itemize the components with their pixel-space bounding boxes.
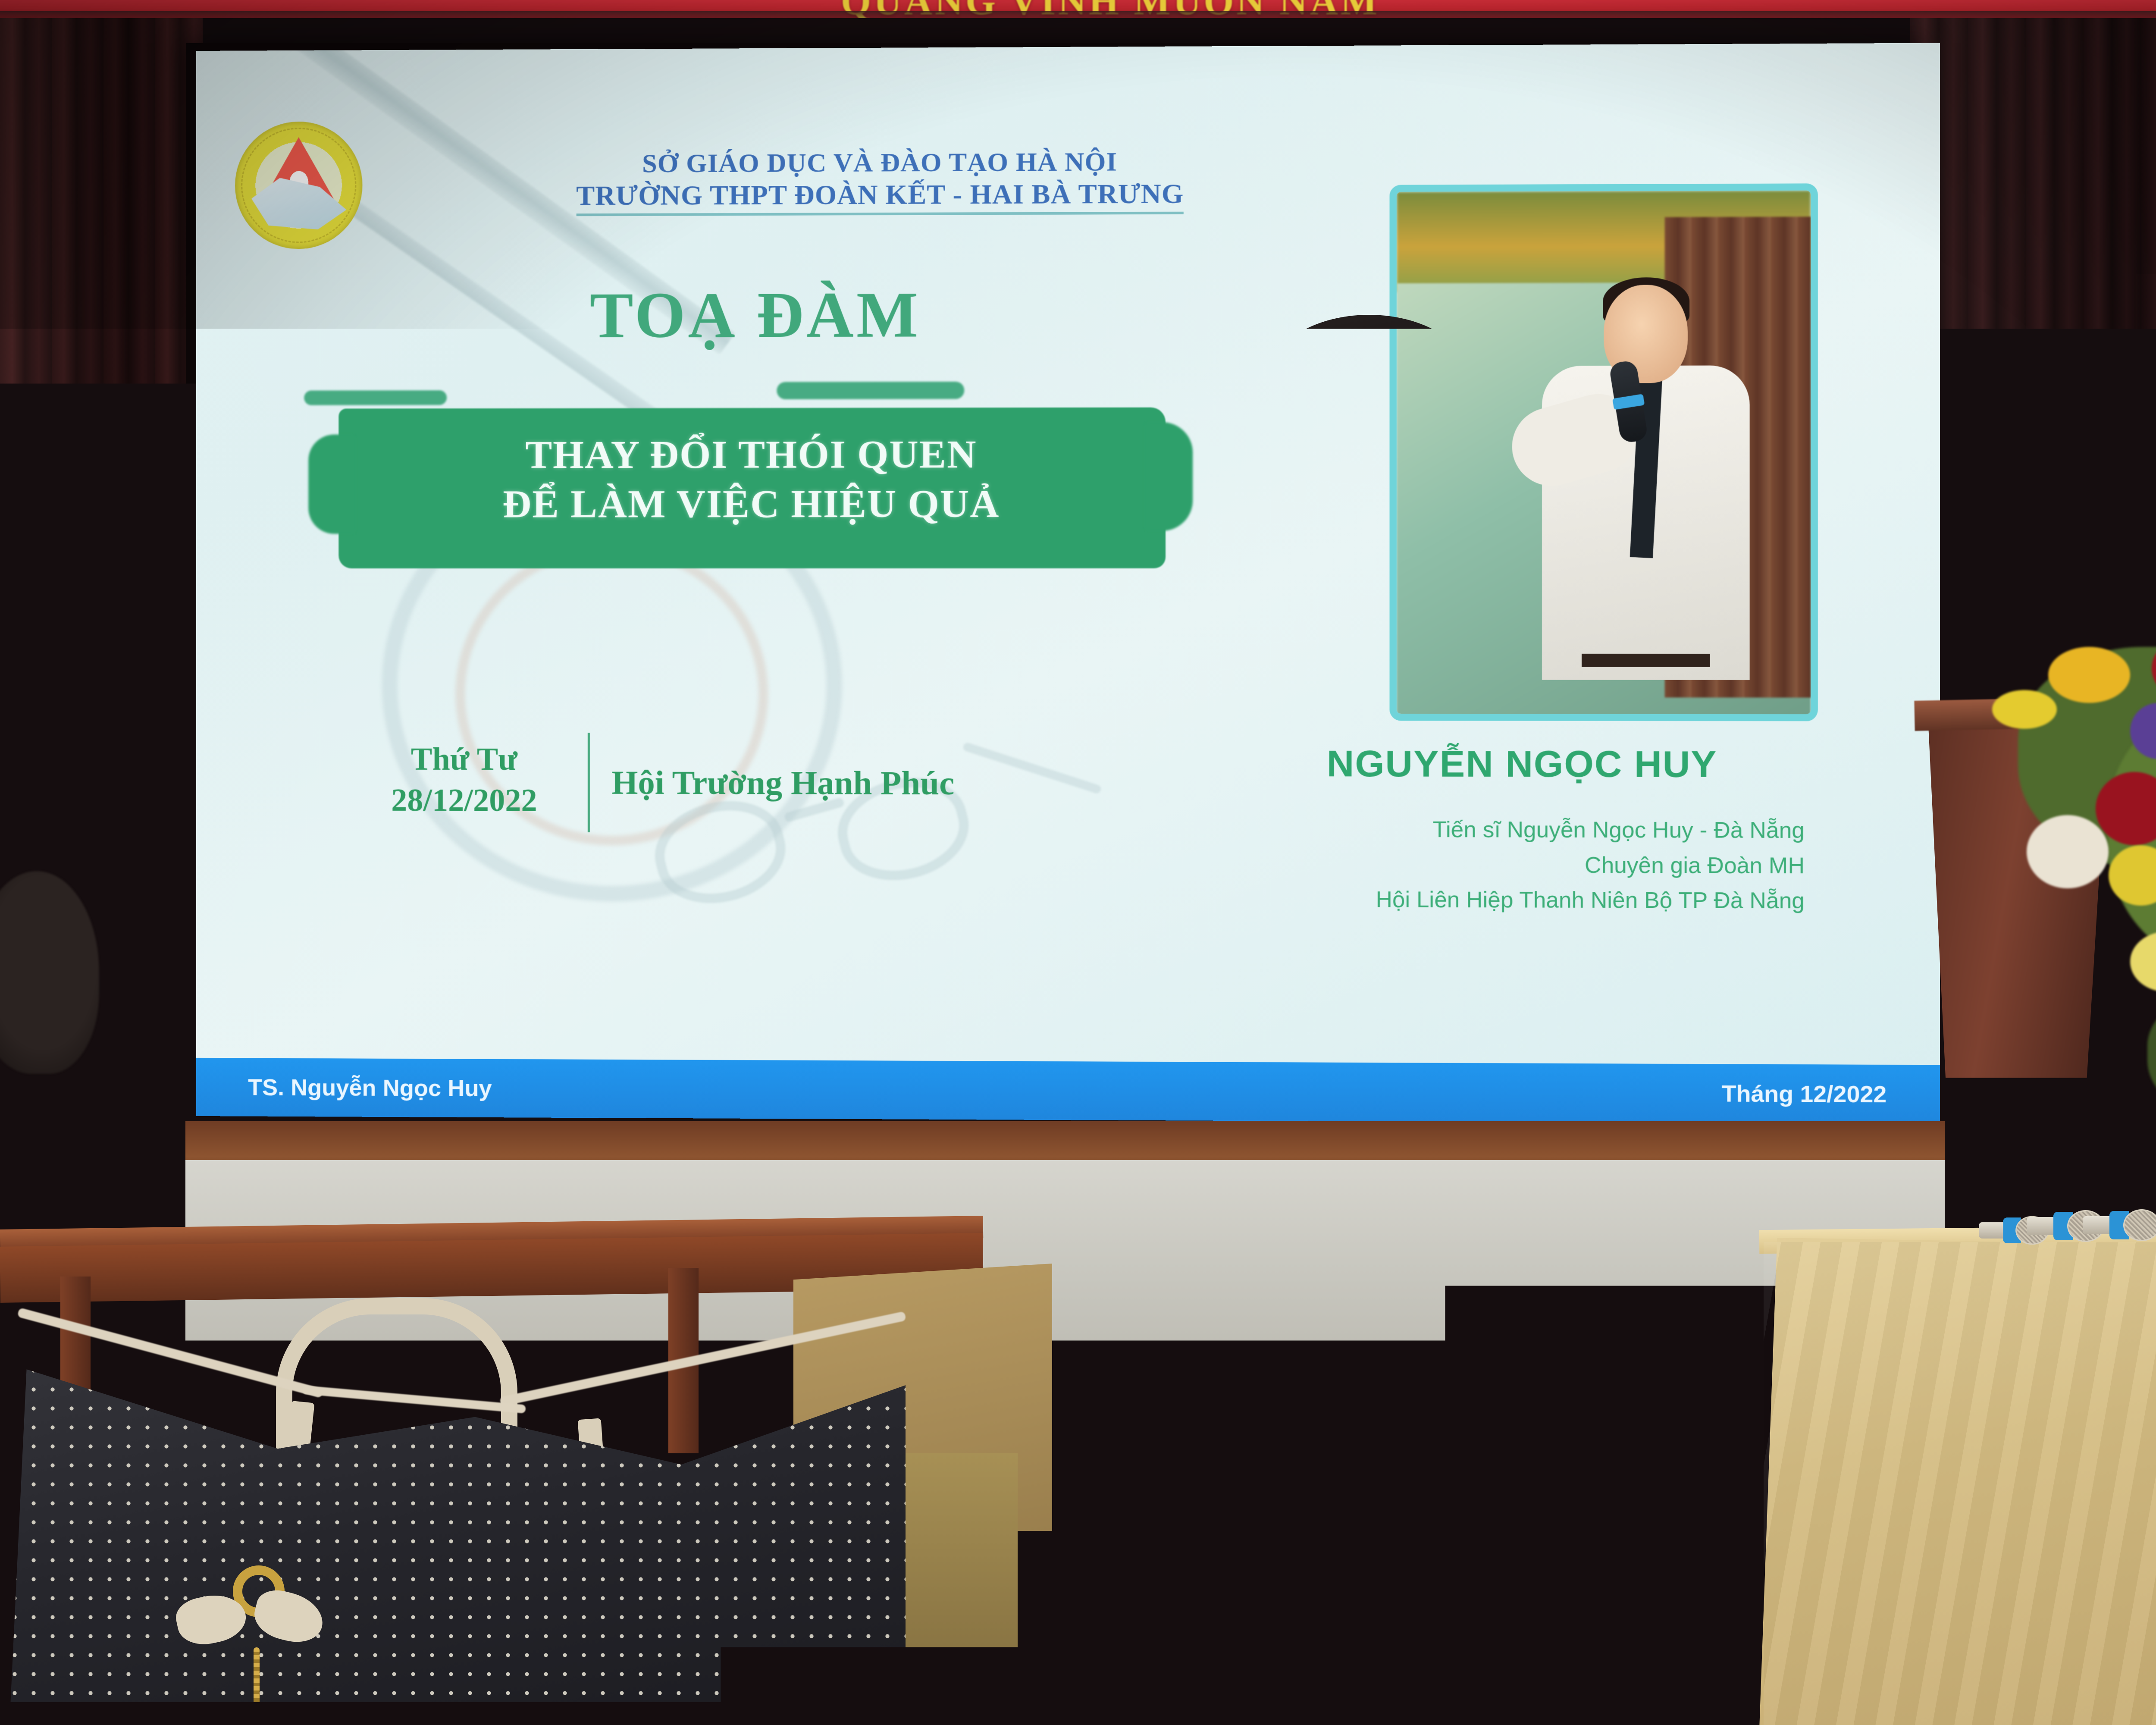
banner-shadow <box>0 11 2156 18</box>
school-emblem-icon <box>235 121 362 249</box>
flower-arrangement <box>1966 630 2156 1138</box>
slide-kicker: TOẠ ĐÀM <box>386 277 1126 353</box>
microphone-set <box>1979 1203 2156 1255</box>
slide-divider <box>588 733 590 832</box>
slide-weekday: Thứ Tư <box>351 739 577 780</box>
slide-title: THAY ĐỔI THÓI QUEN ĐỂ LÀM VIỆC HIỆU QUẢ <box>338 429 1166 529</box>
slide-title-line-1: THAY ĐỔI THÓI QUEN <box>338 429 1166 480</box>
bag-bow-charm-icon <box>177 1591 328 1647</box>
organization-line-1: SỞ GIÁO DỤC VÀ ĐÀO TẠO HÀ NỘI <box>499 146 1262 180</box>
bag-chain <box>254 1647 260 1725</box>
slide-organization: SỞ GIÁO DỤC VÀ ĐÀO TẠO HÀ NỘI TRƯỜNG THP… <box>499 146 1262 216</box>
presentation-hall-photo: QUANG VINH MUÔN NĂM SỞ GIÁO DỤC VÀ ĐÀO T… <box>0 0 2156 1725</box>
organization-line-2: TRƯỜNG THPT ĐOÀN KẾT - HAI BÀ TRƯNG <box>576 178 1184 216</box>
slide-venue: Hội Trường Hạnh Phúc <box>611 763 954 803</box>
slide-title-line-2: ĐỂ LÀM VIỆC HIỆU QUẢ <box>338 479 1166 529</box>
presenter-trousers <box>1263 1320 1505 1725</box>
brush-flick-left <box>304 390 447 405</box>
hall-banner: QUANG VINH MUÔN NĂM <box>0 0 2156 18</box>
presenter-with-microphone <box>1138 315 1682 1725</box>
slide-footer-right: Tháng 12/2022 <box>1722 1080 1887 1108</box>
slide-date-block: Thứ Tư 28/12/2022 <box>351 739 577 821</box>
presenter-hair <box>1268 315 1470 444</box>
table-cloth-sheen <box>1764 1242 2156 1725</box>
wooden-bench-back <box>25 1075 716 1134</box>
wireless-microphone-icon <box>2087 1209 2156 1241</box>
slide-date: 28/12/2022 <box>351 780 577 821</box>
polka-dot-tote-bag <box>9 1289 906 1725</box>
brush-flick-right <box>777 382 964 399</box>
stage-curtain-left <box>0 0 203 1337</box>
